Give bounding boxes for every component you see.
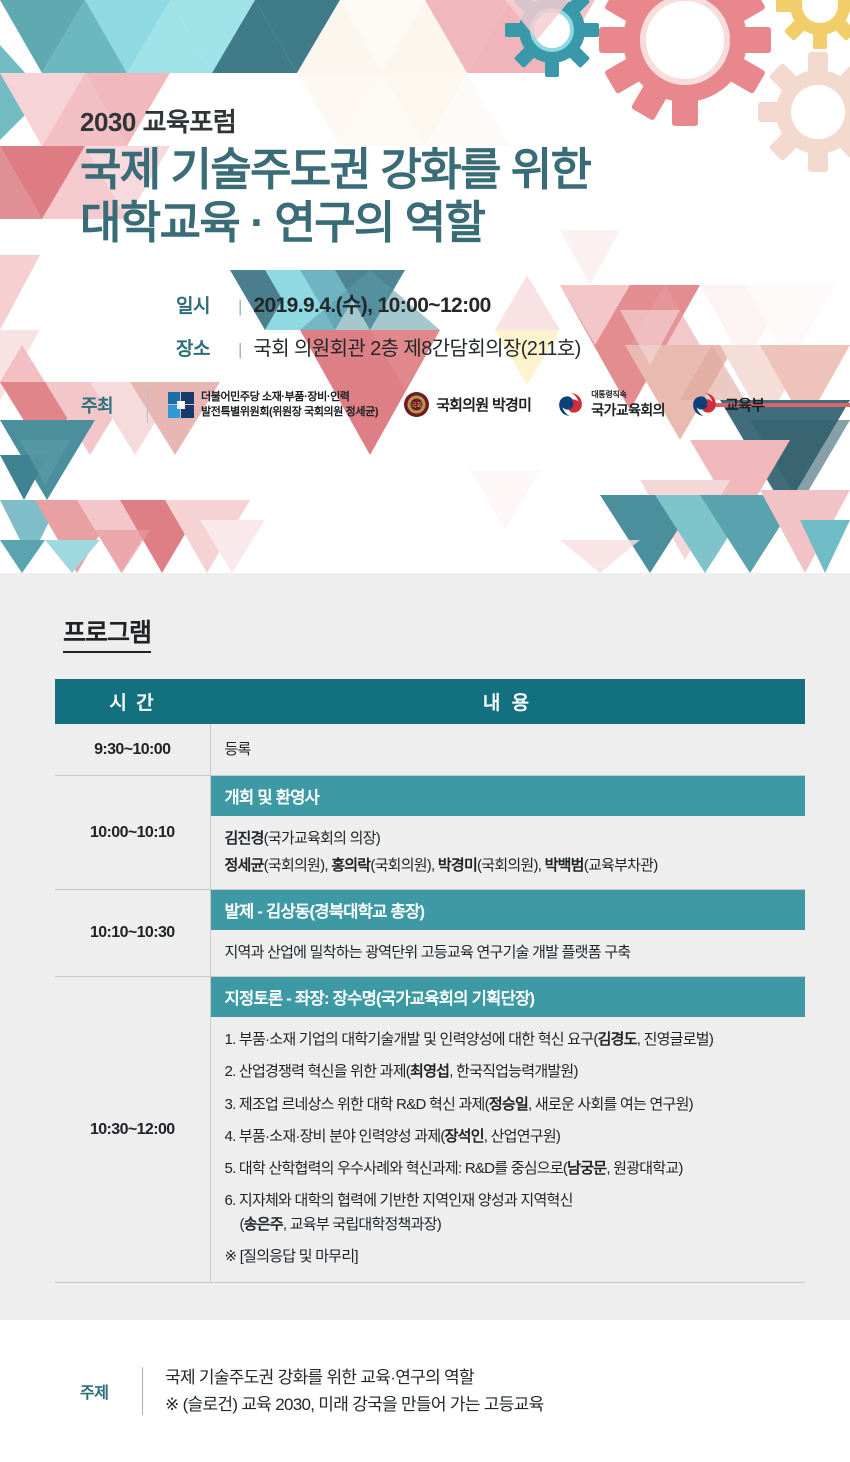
- footer-line-2: ※ (슬로건) 교육 2030, 미래 강국을 만들어 가는 고등교육: [165, 1395, 544, 1414]
- footer-text: 국제 기술주도권 강화를 위한 교육·연구의 역할 ※ (슬로건) 교육 203…: [165, 1364, 544, 1418]
- place-label: 장소: [176, 334, 234, 361]
- row-lines: 지역과 산업에 밀착하는 광역단위 고등교육 연구기술 개발 플랫폼 구축: [211, 930, 806, 976]
- row-line: 2. 산업경쟁력 혁신을 위한 과제(최영섭, 한국직업능력개발원): [225, 1060, 796, 1083]
- row-lines: 김진경(국가교육회의 의장)정세균(국회의원), 홍의락(국회의원), 박경미(…: [211, 816, 806, 889]
- title-line-2: 대학교육 · 연구의 역할: [80, 196, 850, 249]
- row-line: 지역과 산업에 밀착하는 광역단위 고등교육 연구기술 개발 플랫폼 구축: [225, 941, 796, 964]
- svg-text:국회: 국회: [411, 402, 422, 410]
- national-assembly-emblem-icon: 국회: [404, 392, 429, 417]
- taegeuk-logo-icon-nec: [557, 391, 584, 418]
- row-content-cell: 개회 및 환영사김진경(국가교육회의 의장)정세균(국회의원), 홍의락(국회의…: [210, 776, 805, 890]
- organizers-row: 주최 더불어민주당 소재·부품·장비·인력 발전특별위원회(위원장 국회의원 정…: [80, 387, 850, 423]
- organizer-national-education-council: 대통령직속 국가교육회의: [557, 390, 665, 420]
- row-line: 1. 부품·소재 기업의 대학기술개발 및 인력양성에 대한 혁신 요구(김경도…: [225, 1028, 796, 1051]
- page-title: 국제 기술주도권 강화를 위한 대학교육 · 연구의 역할: [80, 143, 850, 249]
- dp-line-2: 발전특별위원회(위원장 국회의원 정세균): [201, 406, 378, 418]
- column-header-content: 내 용: [210, 679, 805, 724]
- organizer-democratic-party: 더불어민주당 소재·부품·장비·인력 발전특별위원회(위원장 국회의원 정세균): [168, 390, 378, 420]
- table-row: 10:30~12:00지정토론 - 좌장: 장수명(국가교육회의 기획단장)1.…: [55, 977, 805, 1283]
- democratic-party-logo-icon: [168, 392, 194, 418]
- row-line: 4. 부품·소재·장비 분야 인력양성 과제(장석인, 산업연구원): [225, 1125, 796, 1148]
- title-line-1: 국제 기술주도권 강화를 위한: [80, 144, 590, 195]
- footer-section: 주제 국제 기술주도권 강화를 위한 교육·연구의 역할 ※ (슬로건) 교육 …: [0, 1320, 850, 1462]
- program-table-body: 9:30~10:00등록10:00~10:10개회 및 환영사김진경(국가교육회…: [55, 724, 805, 1283]
- row-content-cell: 등록: [210, 724, 805, 776]
- organizer-divider: [147, 387, 148, 423]
- row-line: 정세균(국회의원), 홍의락(국회의원), 박경미(국회의원), 박백범(교육부…: [225, 854, 796, 877]
- taegeuk-logo-icon-moe: [691, 391, 718, 418]
- national-assembly-text: 국회의원 박경미: [436, 394, 531, 415]
- nec-small-line: 대통령직속: [591, 390, 665, 401]
- date-value: 2019.9.4.(수), 10:00~12:00: [253, 289, 490, 319]
- row-line: 3. 제조업 르네상스 위한 대학 R&D 혁신 과제(정승일, 새로운 사회를…: [225, 1093, 796, 1116]
- nec-big-line: 국가교육회의: [591, 401, 665, 420]
- footer-divider: [142, 1367, 143, 1415]
- row-section-band: 발제 - 김상동(경북대학교 총장): [211, 890, 806, 930]
- event-meta: 일시 | 2019.9.4.(수), 10:00~12:00 장소 | 국회 의…: [80, 289, 850, 361]
- date-label: 일시: [176, 291, 234, 318]
- organizer-label: 주최: [81, 392, 133, 418]
- table-row: 9:30~10:00등록: [55, 724, 805, 776]
- row-content-cell: 발제 - 김상동(경북대학교 총장)지역과 산업에 밀착하는 광역단위 고등교육…: [210, 889, 805, 976]
- row-line: ※ [질의응답 및 마무리]: [225, 1245, 796, 1268]
- row-time-cell: 10:30~12:00: [55, 977, 210, 1283]
- organizer-ministry-of-education: 교육부: [691, 391, 764, 418]
- table-header-row: 시 간 내 용: [55, 679, 805, 724]
- footer-line-1: 국제 기술주도권 강화를 위한 교육·연구의 역할: [165, 1368, 474, 1387]
- row-time-cell: 10:10~10:30: [55, 889, 210, 976]
- table-row: 10:00~10:10개회 및 환영사김진경(국가교육회의 의장)정세균(국회의…: [55, 776, 805, 890]
- program-table: 시 간 내 용 9:30~10:00등록10:00~10:10개회 및 환영사김…: [55, 679, 805, 1283]
- hero-section: 2030 교육포럼 국제 기술주도권 강화를 위한 대학교육 · 연구의 역할 …: [0, 0, 850, 573]
- place-value: 국회 의원회관 2층 제8간담회의장(211호): [253, 332, 580, 361]
- democratic-party-text: 더불어민주당 소재·부품·장비·인력 발전특별위원회(위원장 국회의원 정세균): [201, 390, 378, 420]
- footer-label: 주제: [80, 1379, 122, 1403]
- row-section-band: 개회 및 환영사: [211, 776, 806, 816]
- row-section-band: 지정토론 - 좌장: 장수명(국가교육회의 기획단장): [211, 977, 806, 1017]
- meta-divider-1: |: [238, 297, 242, 317]
- moe-text: 교육부: [725, 394, 764, 415]
- row-lines: 1. 부품·소재 기업의 대학기술개발 및 인력양성에 대한 혁신 요구(김경도…: [211, 1017, 806, 1282]
- meta-row-place: 장소 | 국회 의원회관 2층 제8간담회의장(211호): [176, 332, 850, 361]
- dp-line-1: 더불어민주당 소재·부품·장비·인력: [201, 391, 350, 403]
- meta-divider-2: |: [238, 340, 242, 360]
- row-lines: 등록: [211, 724, 806, 775]
- organizer-national-assembly: 국회 국회의원 박경미: [404, 392, 531, 417]
- row-time-cell: 10:00~10:10: [55, 776, 210, 890]
- row-line: 등록: [225, 738, 796, 761]
- nec-text: 대통령직속 국가교육회의: [591, 390, 665, 420]
- row-line: 5. 대학 산학협력의 우수사례와 혁신과제: R&D를 중심으로(남궁문, 원…: [225, 1157, 796, 1180]
- row-line: 김진경(국가교육회의 의장): [225, 827, 796, 850]
- page-kicker: 2030 교육포럼: [80, 108, 850, 137]
- row-time-cell: 9:30~10:00: [55, 724, 210, 776]
- poster-root: 2030 교육포럼 국제 기술주도권 강화를 위한 대학교육 · 연구의 역할 …: [0, 0, 850, 1462]
- row-content-cell: 지정토론 - 좌장: 장수명(국가교육회의 기획단장)1. 부품·소재 기업의 …: [210, 977, 805, 1283]
- meta-row-date: 일시 | 2019.9.4.(수), 10:00~12:00: [176, 289, 850, 319]
- program-section: 프로그램 시 간 내 용 9:30~10:00등록10:00~10:10개회 및…: [0, 573, 850, 1320]
- table-row: 10:10~10:30발제 - 김상동(경북대학교 총장)지역과 산업에 밀착하…: [55, 889, 805, 976]
- row-line: 6. 지자체와 대학의 협력에 기반한 지역인재 양성과 지역혁신(송은주, 교…: [225, 1189, 796, 1236]
- program-heading: 프로그램: [63, 613, 151, 653]
- column-header-time: 시 간: [55, 679, 210, 724]
